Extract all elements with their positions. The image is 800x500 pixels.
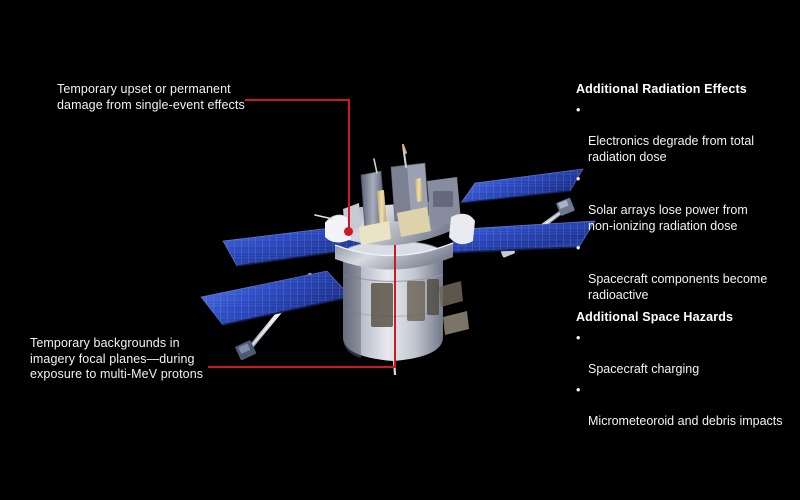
diagram-canvas: Temporary upset or permanent damage from… [0,0,800,500]
callout-single-event-effects: Temporary upset or permanent damage from… [57,82,317,113]
list-item: • Electronics degrade from total radiati… [576,103,791,165]
bullet-icon: • [576,172,580,188]
solar-array-right-upper [461,169,583,203]
list-item: • Solar arrays lose power from non-ioniz… [576,172,791,234]
list-item-label: Spacecraft charging [588,362,699,376]
leader-endpoint-dot-top [344,227,353,236]
leader-line-bottom-vertical [394,245,396,368]
panel-radiation-title: Additional Radiation Effects [576,82,791,96]
panel-hazards-list: • Spacecraft charging • Micrometeoroid a… [576,331,791,429]
list-item-label: Solar arrays lose power from non-ionizin… [588,203,748,233]
bullet-icon: • [576,241,580,257]
bullet-icon: • [576,331,580,347]
panel-radiation-list: • Electronics degrade from total radiati… [576,103,791,303]
list-item: • Spacecraft charging [576,331,791,378]
list-item: • Micrometeoroid and debris impacts [576,383,791,430]
leader-line-top-vertical [348,99,350,231]
list-item-label: Micrometeoroid and debris impacts [588,414,783,428]
instrument-deck [315,145,475,245]
list-item: • Spacecraft components become radioacti… [576,241,791,303]
list-item-label: Spacecraft components become radioactive [588,272,767,302]
panel-hazards-title: Additional Space Hazards [576,310,791,324]
spacecraft-illustration [175,105,605,375]
callout-imagery-backgrounds: Temporary backgrounds in imagery focal p… [30,336,280,383]
panel-additional-space-hazards: Additional Space Hazards • Spacecraft ch… [576,310,791,434]
bullet-icon: • [576,383,580,399]
side-appendage-right [439,281,469,335]
bullet-icon: • [576,103,580,119]
list-item-label: Electronics degrade from total radiation… [588,134,754,164]
panel-additional-radiation-effects: Additional Radiation Effects • Electroni… [576,82,791,303]
